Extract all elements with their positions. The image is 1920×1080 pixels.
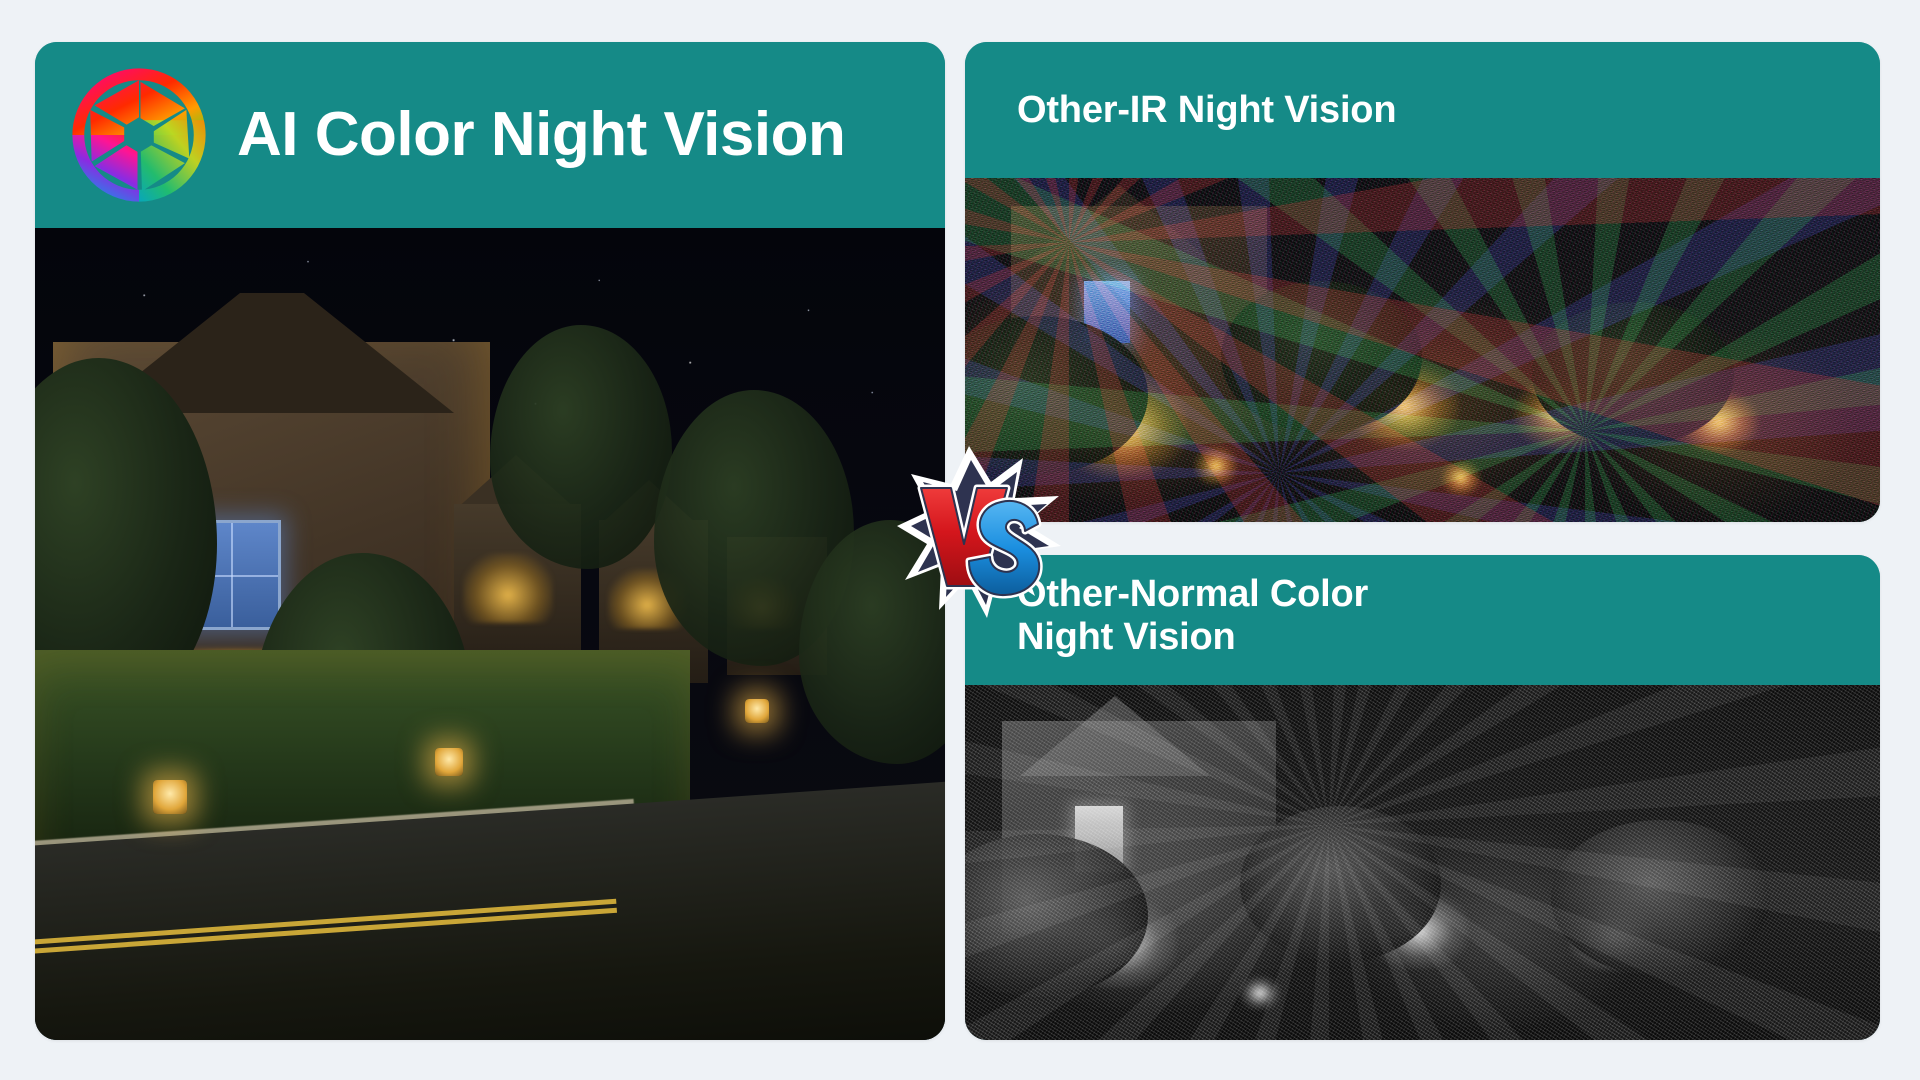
- other-normal-color-night-vision-panel: Other-Normal Color Night Vision: [965, 555, 1880, 1040]
- aperture-icon: [65, 61, 213, 209]
- normal-panel-title-line1: Other-Normal Color: [1017, 573, 1368, 615]
- comparison-infographic: AI Color Night Vision: [0, 0, 1920, 1080]
- hero-image: [35, 228, 945, 1040]
- hero-title: AI Color Night Vision: [237, 104, 845, 166]
- normal-panel-title: Other-Normal Color Night Vision: [1017, 573, 1368, 658]
- other-ir-night-vision-panel: Other-IR Night Vision: [965, 42, 1880, 522]
- gray-noise-layer: [965, 685, 1880, 1040]
- hero-header: AI Color Night Vision: [35, 42, 945, 228]
- path-lamp: [435, 748, 463, 776]
- ir-panel-title: Other-IR Night Vision: [1017, 89, 1396, 132]
- distant-house-glow: [463, 553, 553, 623]
- vs-badge: [895, 440, 1065, 625]
- ai-color-night-vision-panel: AI Color Night Vision: [35, 42, 945, 1040]
- tree: [490, 325, 672, 569]
- path-lamp: [745, 699, 769, 723]
- ir-image: [965, 178, 1880, 522]
- normal-header: Other-Normal Color Night Vision: [965, 555, 1880, 685]
- normal-image: [965, 685, 1880, 1040]
- ir-noise-layer-2: [965, 178, 1880, 522]
- ir-header: Other-IR Night Vision: [965, 42, 1880, 178]
- path-lamp: [153, 780, 187, 814]
